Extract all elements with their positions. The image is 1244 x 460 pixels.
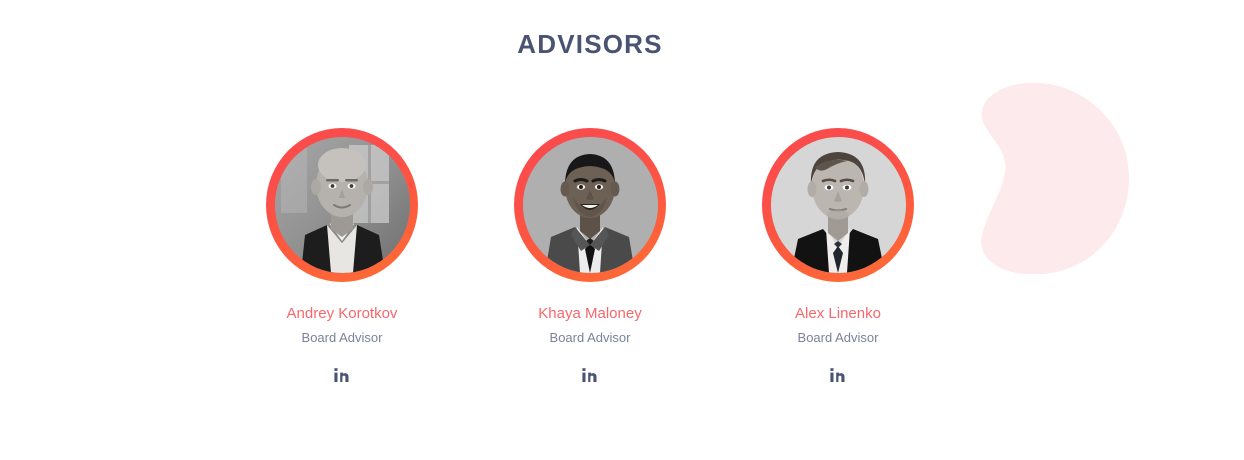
advisor-name: Alex Linenko: [795, 304, 881, 324]
avatar-ring: [514, 128, 666, 282]
avatar: [771, 137, 906, 273]
linkedin-icon[interactable]: [829, 366, 847, 384]
advisor-name: Khaya Maloney: [538, 304, 641, 324]
social-links: [829, 366, 847, 384]
linkedin-icon[interactable]: [581, 366, 599, 384]
advisor-role: Board Advisor: [302, 329, 383, 347]
avatar: [523, 137, 658, 273]
pink-blob-shape: [975, 82, 1130, 274]
advisor-role: Board Advisor: [550, 329, 631, 347]
social-links: [581, 366, 599, 384]
advisor-card: Khaya Maloney Board Advisor: [466, 128, 714, 384]
linkedin-icon[interactable]: [333, 366, 351, 384]
advisor-role: Board Advisor: [798, 329, 879, 347]
advisor-card: Andrey Korotkov Board Advisor: [218, 128, 466, 384]
page-title: ADVISORS: [0, 28, 1180, 60]
advisors-section: ADVISORS: [0, 0, 1244, 460]
advisor-name: Andrey Korotkov: [287, 304, 398, 324]
advisor-card: Alex Linenko Board Advisor: [714, 128, 962, 384]
social-links: [333, 366, 351, 384]
advisors-list: Andrey Korotkov Board Advisor: [218, 128, 962, 384]
avatar: [275, 137, 410, 273]
avatar-ring: [266, 128, 418, 282]
avatar-ring: [762, 128, 914, 282]
